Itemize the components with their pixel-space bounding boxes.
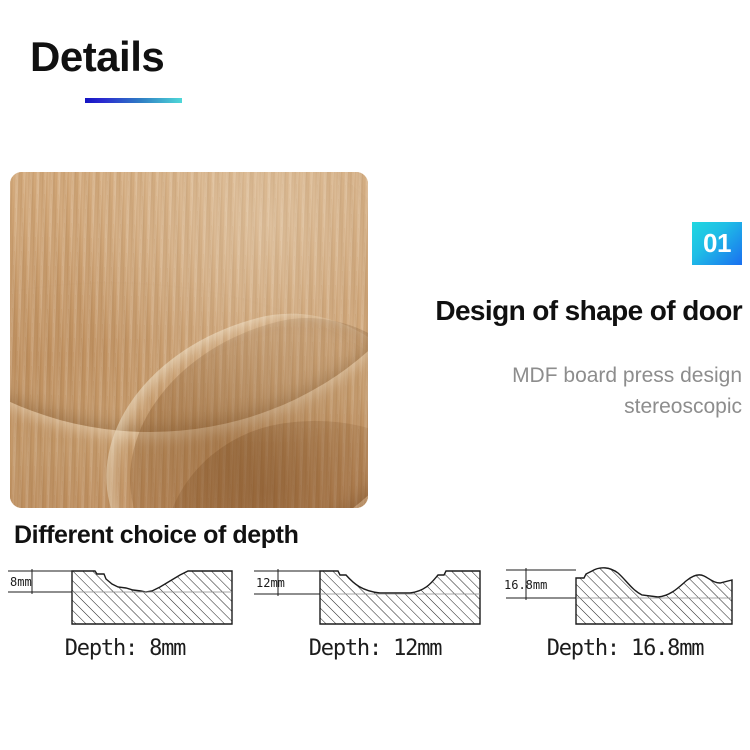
dimension-label-12mm: 12mm — [256, 576, 285, 590]
depth-caption-16-8mm: Depth: 16.8mm — [500, 636, 750, 661]
profile-cross-section-16-8mm — [576, 568, 732, 624]
depth-profile-diagram-16-8mm: 16.8mm — [500, 558, 750, 630]
dimension-label-16-8mm: 16.8mm — [504, 578, 547, 592]
depth-caption-8mm: Depth: 8mm — [0, 636, 250, 661]
wood-panel-photo — [10, 172, 368, 508]
depth-section-heading: Different choice of depth — [14, 521, 298, 550]
profile-cross-section-12mm — [320, 571, 480, 624]
depth-options-row: 8mm Depth: 8mm 12mm Depth: 12mm — [0, 558, 750, 676]
profile-cross-section-8mm — [72, 571, 232, 624]
depth-option-16-8mm: 16.8mm Depth: 16.8mm — [500, 558, 750, 676]
feature-description: MDF board press design stereoscopic — [322, 360, 742, 422]
depth-option-8mm: 8mm Depth: 8mm — [0, 558, 250, 676]
feature-number-badge: 01 — [692, 222, 742, 265]
feature-description-line-1: MDF board press design — [322, 360, 742, 391]
depth-profile-diagram-8mm: 8mm — [0, 558, 250, 630]
feature-description-line-2: stereoscopic — [322, 391, 742, 422]
dimension-label-8mm: 8mm — [10, 575, 32, 589]
depth-caption-12mm: Depth: 12mm — [250, 636, 500, 661]
photo-sheen-overlay — [10, 172, 368, 508]
depth-profile-diagram-12mm: 12mm — [250, 558, 500, 630]
feature-title: Design of shape of door — [435, 295, 742, 327]
depth-option-12mm: 12mm Depth: 12mm — [250, 558, 500, 676]
title-underline-accent — [85, 98, 182, 103]
page-title: Details — [30, 36, 164, 78]
